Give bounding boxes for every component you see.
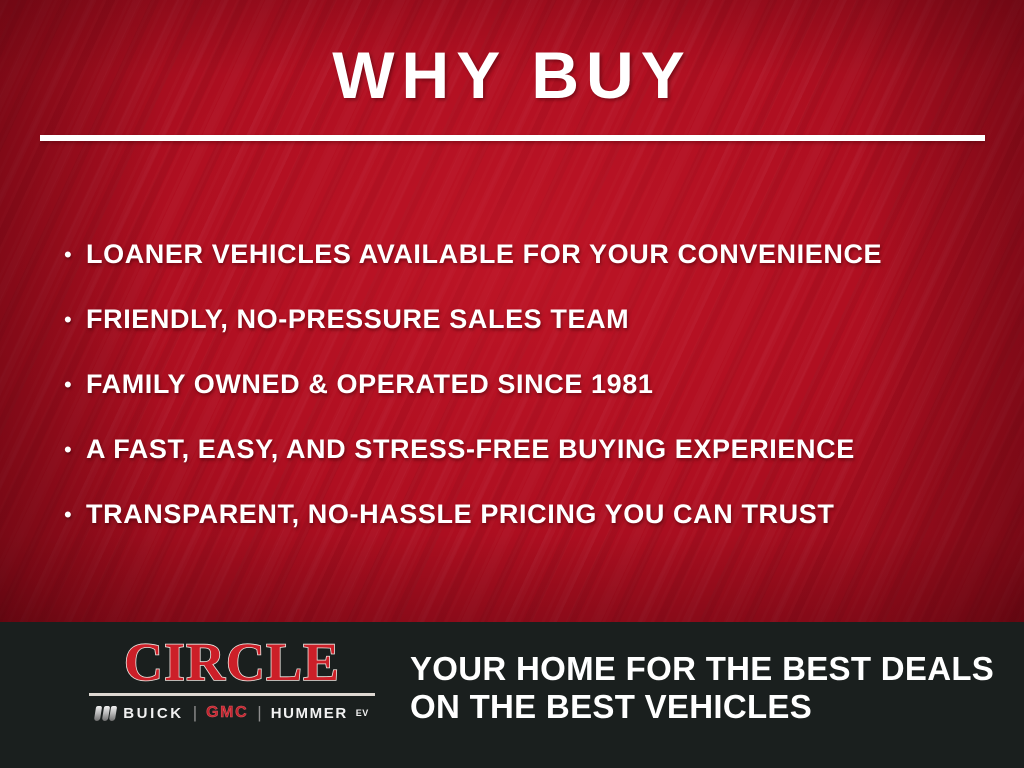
list-item: • A FAST, EASY, AND STRESS-FREE BUYING E…: [64, 417, 984, 482]
list-item: • FAMILY OWNED & OPERATED SINCE 1981: [64, 352, 984, 417]
list-item-label: FAMILY OWNED & OPERATED SINCE 1981: [86, 369, 654, 400]
brand-gmc-label: GMC: [206, 704, 248, 722]
page-title: WHY BUY: [0, 42, 1024, 108]
brand-strip: BUICK | GMC | HUMMER EV: [82, 703, 382, 723]
brand-hummer-label: HUMMER: [271, 705, 348, 722]
bullet-marker-icon: •: [64, 439, 86, 461]
list-item: • TRANSPARENT, NO-HASSLE PRICING YOU CAN…: [64, 482, 984, 547]
buick-tri-shield-icon: [95, 706, 116, 721]
list-item-label: A FAST, EASY, AND STRESS-FREE BUYING EXP…: [86, 434, 855, 465]
footer-bar: CIRCLE BUICK | GMC | HUMMER EV YOUR HOME…: [0, 622, 1024, 768]
brand-buick-label: BUICK: [123, 705, 184, 722]
brand-separator-icon: |: [191, 703, 199, 723]
bullet-marker-icon: •: [64, 244, 86, 266]
title-divider-rule: [40, 135, 985, 141]
list-item: • FRIENDLY, NO-PRESSURE SALES TEAM: [64, 287, 984, 352]
footer-tagline-line-1: YOUR HOME FOR THE BEST DEALS: [410, 650, 994, 688]
brand-separator-icon: |: [255, 703, 263, 723]
bullet-marker-icon: •: [64, 504, 86, 526]
list-item-label: LOANER VEHICLES AVAILABLE FOR YOUR CONVE…: [86, 239, 882, 270]
benefits-list: • LOANER VEHICLES AVAILABLE FOR YOUR CON…: [64, 222, 984, 547]
logo-wordmark: CIRCLE: [82, 634, 382, 690]
brand-hummer-ev-suffix: EV: [356, 708, 369, 718]
list-item: • LOANER VEHICLES AVAILABLE FOR YOUR CON…: [64, 222, 984, 287]
list-item-label: FRIENDLY, NO-PRESSURE SALES TEAM: [86, 304, 629, 335]
bullet-marker-icon: •: [64, 309, 86, 331]
dealership-logo: CIRCLE BUICK | GMC | HUMMER EV: [82, 634, 382, 723]
bullet-marker-icon: •: [64, 374, 86, 396]
list-item-label: TRANSPARENT, NO-HASSLE PRICING YOU CAN T…: [86, 499, 834, 530]
footer-tagline: YOUR HOME FOR THE BEST DEALS ON THE BEST…: [410, 650, 994, 726]
slide-canvas: WHY BUY • LOANER VEHICLES AVAILABLE FOR …: [0, 0, 1024, 768]
footer-tagline-line-2: ON THE BEST VEHICLES: [410, 688, 994, 726]
logo-divider-rule: [89, 693, 375, 696]
